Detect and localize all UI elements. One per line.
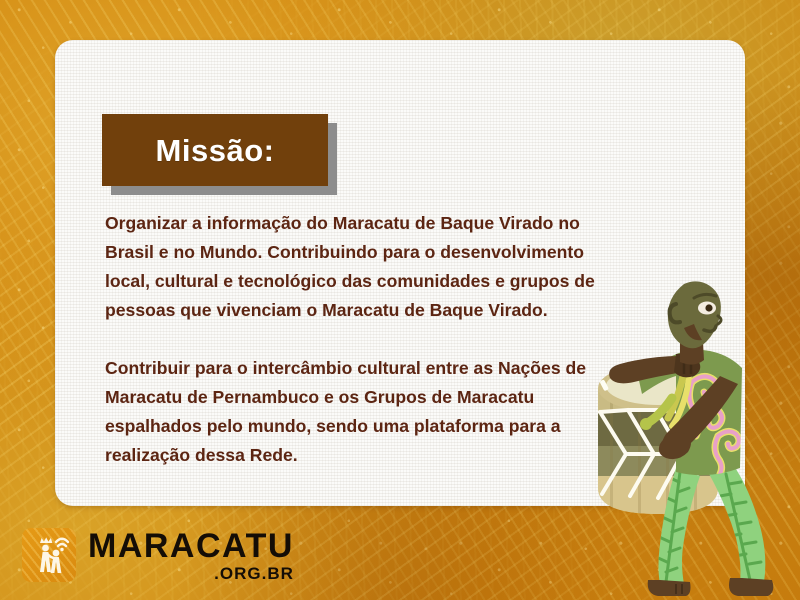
mission-paragraph-1: Organizar a informação do Maracatu de Ba… [105, 209, 625, 325]
maracatu-figures-wifi-icon [22, 528, 76, 582]
page-title: Missão: [156, 135, 275, 166]
drummer-shoe-left [648, 580, 691, 596]
figure-king [40, 537, 52, 572]
maracatu-logo[interactable]: MARACATU .ORG.BR [22, 528, 294, 582]
slide-root: Missão: Organizar a informação do Maraca… [0, 0, 800, 600]
logo-domain: .ORG.BR [214, 565, 294, 582]
logo-wordmark: MARACATU .ORG.BR [88, 529, 294, 582]
heading-block: Missão: [102, 114, 328, 186]
mission-text: Organizar a informação do Maracatu de Ba… [105, 209, 625, 470]
logo-name: MARACATU [88, 529, 294, 563]
maracatu-drummer-illustration [580, 276, 800, 600]
wifi-signal-arcs [56, 539, 68, 551]
drummer-shoe-right [729, 578, 773, 596]
heading-box: Missão: [102, 114, 328, 186]
figure-person [51, 550, 62, 573]
mission-paragraph-2: Contribuir para o intercâmbio cultural e… [105, 354, 625, 470]
